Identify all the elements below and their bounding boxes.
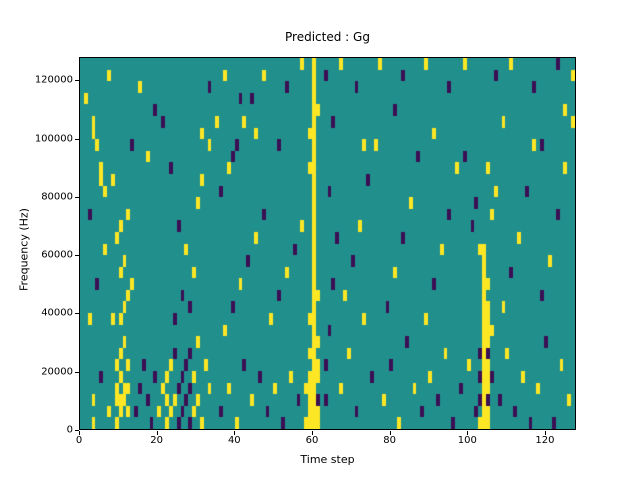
y-tick-mark bbox=[75, 139, 79, 140]
y-tick-label: 20000 bbox=[41, 366, 73, 377]
x-tick-label: 60 bbox=[306, 435, 319, 446]
x-tick-mark bbox=[545, 431, 546, 435]
x-tick-label: 0 bbox=[76, 435, 82, 446]
y-tick-mark bbox=[75, 372, 79, 373]
x-tick-label: 120 bbox=[535, 435, 554, 446]
y-tick-label: 0 bbox=[67, 425, 73, 436]
x-tick-mark bbox=[467, 431, 468, 435]
matplotlib-figure: Predicted : Gg 0200004000060000800001000… bbox=[0, 0, 640, 480]
x-tick-label: 100 bbox=[458, 435, 477, 446]
y-tick-mark bbox=[75, 80, 79, 81]
page-title: Predicted : Gg bbox=[79, 30, 576, 44]
y-tick-mark bbox=[75, 313, 79, 314]
y-tick-label: 100000 bbox=[35, 133, 73, 144]
x-tick-label: 20 bbox=[150, 435, 163, 446]
y-tick-label: 80000 bbox=[41, 191, 73, 202]
y-tick-label: 40000 bbox=[41, 308, 73, 319]
y-axis-tick-labels: 020000400006000080000100000120000 bbox=[0, 0, 73, 480]
x-tick-mark bbox=[234, 431, 235, 435]
x-tick-label: 80 bbox=[383, 435, 396, 446]
x-tick-mark bbox=[157, 431, 158, 435]
y-tick-label: 120000 bbox=[35, 75, 73, 86]
x-tick-mark bbox=[312, 431, 313, 435]
heatmap-image bbox=[80, 58, 575, 429]
y-tick-mark bbox=[75, 197, 79, 198]
heatmap-axes bbox=[79, 57, 576, 430]
y-tick-mark bbox=[75, 255, 79, 256]
y-axis-label: Frequency (Hz) bbox=[18, 170, 31, 330]
x-axis-label: Time step bbox=[79, 453, 576, 466]
x-tick-label: 40 bbox=[228, 435, 241, 446]
x-tick-mark bbox=[79, 431, 80, 435]
y-tick-label: 60000 bbox=[41, 250, 73, 261]
x-tick-mark bbox=[390, 431, 391, 435]
